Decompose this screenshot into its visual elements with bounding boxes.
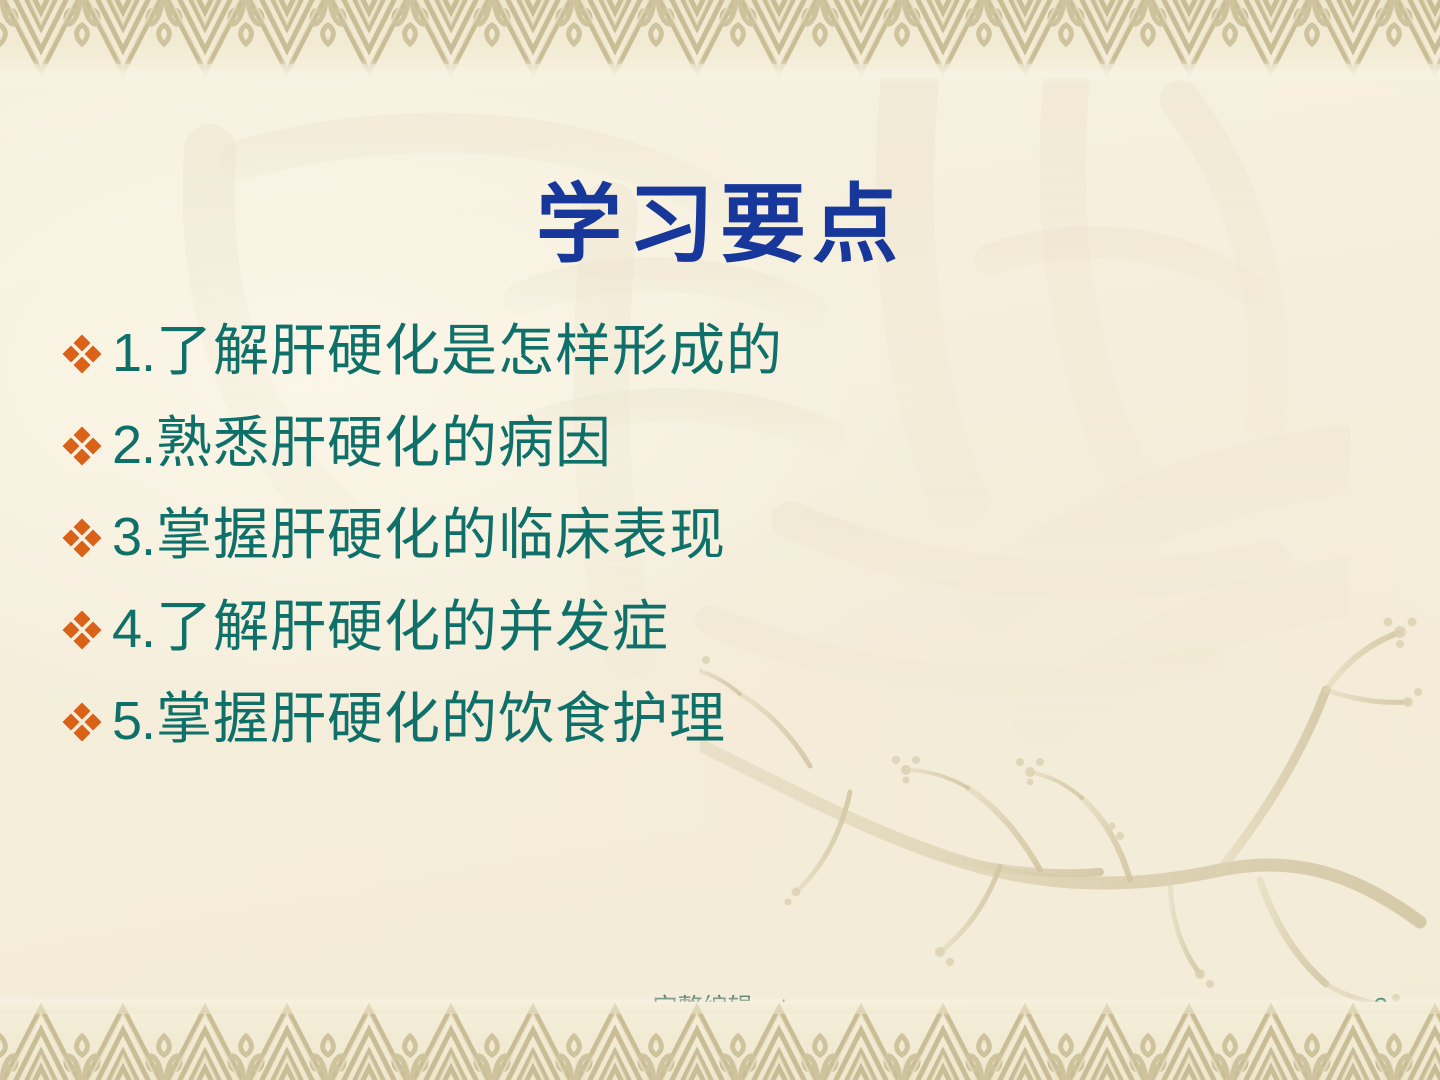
list-item-label: 了解肝硬化的并发症 (156, 600, 669, 656)
learning-objectives-list: 1. 了解肝硬化是怎样形成的 2. 熟悉肝硬化的病因 (60, 306, 1380, 766)
diamond-cluster-bullet-icon (60, 608, 104, 652)
list-item: 3. 掌握肝硬化的临床表现 (60, 490, 1380, 582)
list-item-number: 3. (112, 510, 155, 564)
list-item: 5. 掌握肝硬化的饮食护理 (60, 674, 1380, 766)
list-item: 1. 了解肝硬化是怎样形成的 (60, 306, 1380, 398)
list-item-label: 掌握肝硬化的临床表现 (156, 508, 726, 564)
diamond-cluster-bullet-icon (60, 332, 104, 376)
diamond-cluster-bullet-icon (60, 516, 104, 560)
list-item: 2. 熟悉肝硬化的病因 (60, 398, 1380, 490)
presentation-slide: 学习要点 1. 了解肝硬化是怎样形成的 (0, 0, 1440, 1080)
list-item-number: 5. (112, 694, 155, 748)
list-item-label: 熟悉肝硬化的病因 (156, 416, 612, 472)
list-item-number: 4. (112, 602, 155, 656)
list-item-number: 2. (112, 418, 155, 472)
diamond-cluster-bullet-icon (60, 700, 104, 744)
list-item-label: 了解肝硬化是怎样形成的 (156, 324, 783, 380)
list-item: 4. 了解肝硬化的并发症 (60, 582, 1380, 674)
list-item-label: 掌握肝硬化的饮食护理 (156, 692, 726, 748)
list-item-number: 1. (112, 326, 155, 380)
page-title: 学习要点 (0, 180, 1440, 270)
slide-footer-label: 完整编辑ppt (0, 988, 1440, 1024)
diamond-cluster-bullet-icon (60, 424, 104, 468)
slide-page-number: 2 (1374, 992, 1388, 1023)
